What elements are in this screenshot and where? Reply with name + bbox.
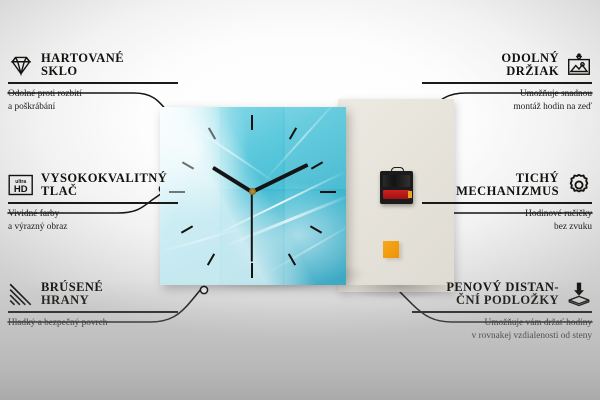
feature-description: Umožňuje snadnou montáž hodin na zeď	[422, 88, 592, 115]
feature-silent-mechanism[interactable]: TICHÝ MECHANIZMUS Hodinové ručičky bez z…	[422, 172, 592, 235]
feature-foam-spacers[interactable]: PENOVÝ DISTAN- ČNÍ PODLOŽKY Umožňuje vám…	[412, 281, 592, 344]
feature-title-line: DRŽIAK	[506, 65, 559, 78]
feature-title-line: SKLO	[41, 65, 124, 78]
gear-icon	[566, 172, 592, 198]
divider	[422, 202, 592, 203]
feature-title-line: MECHANIZMUS	[456, 185, 559, 198]
picture-frame-icon	[566, 52, 592, 78]
clock-hub	[249, 188, 256, 195]
divider	[8, 202, 178, 203]
foam-spacer-pad	[383, 241, 399, 258]
battery	[383, 190, 410, 199]
svg-text:HD: HD	[14, 184, 28, 195]
clock-mechanism	[380, 171, 413, 204]
feature-ground-edges[interactable]: BRÚSENÉ HRANY Hladký a bezpečný povrch	[8, 281, 178, 330]
feature-description: Hladký a bezpečný povrch	[8, 317, 178, 330]
divider	[422, 82, 592, 83]
feature-title-line: HRANY	[41, 294, 103, 307]
feature-tempered-glass[interactable]: HARTOVANÉ SKLO Odolné proti rozbití a po…	[8, 52, 178, 115]
product-photo	[134, 107, 454, 292]
foam-pad-arrow-icon	[566, 281, 592, 307]
feature-durable-holder[interactable]: ODOLNÝ DRŽIAK Umožňuje snadnou montáž ho…	[422, 52, 592, 115]
feature-description: Hodinové ručičky bez zvuku	[422, 208, 592, 235]
infographic-canvas: HARTOVANÉ SKLO Odolné proti rozbití a po…	[0, 0, 600, 400]
wall-clock	[160, 107, 346, 285]
ultra-hd-icon: ultra HD	[8, 172, 34, 198]
divider	[412, 311, 592, 312]
feature-title-line: TLAČ	[41, 185, 167, 198]
beveled-edge-icon	[8, 281, 34, 307]
feature-description: Odolné proti rozbití a poškrábání	[8, 88, 178, 115]
feature-description: Vividné farby a výrazný obraz	[8, 208, 178, 235]
glass-reflection	[160, 107, 346, 285]
second-hand	[251, 192, 253, 262]
divider	[8, 311, 178, 312]
feature-description: Umožňuje vám držať hodiny v rovnakej vzd…	[412, 317, 592, 344]
feature-title-line: ČNÍ PODLOŽKY	[456, 294, 559, 307]
feature-high-quality-print[interactable]: ultra HD VYSOKOKVALITNÝ TLAČ Vividné far…	[8, 172, 178, 235]
divider	[8, 82, 178, 83]
diamond-icon	[8, 52, 34, 78]
mechanism-housing	[383, 175, 410, 187]
